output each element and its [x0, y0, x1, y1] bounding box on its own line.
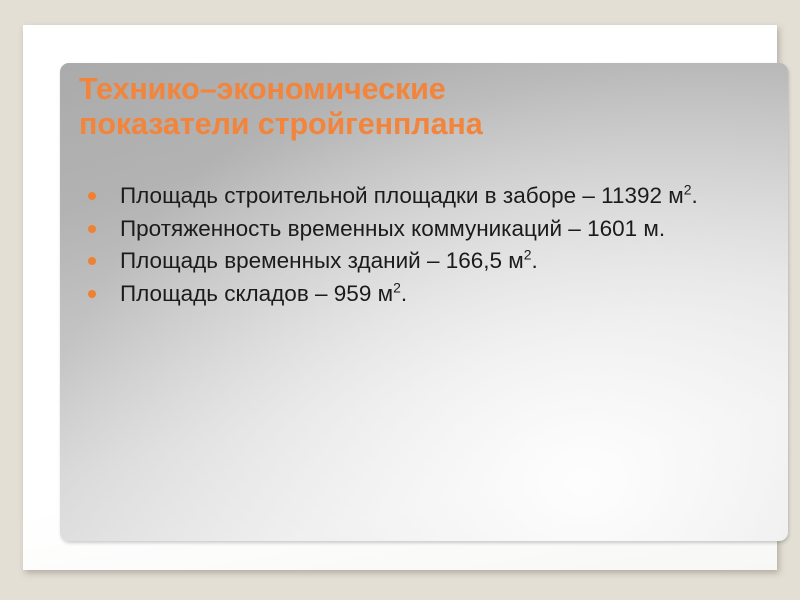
list-item-text-main: Площадь строительной площадки в заборе –…	[120, 183, 684, 208]
list-item-text-main: Протяженность временных коммуникаций – 1…	[120, 216, 665, 241]
list-item: Площадь строительной площадки в заборе –…	[81, 181, 761, 211]
bullet-dot-icon	[88, 192, 96, 200]
bullet-dot-icon	[88, 290, 96, 298]
list-item-text: Площадь строительной площадки в заборе –…	[120, 181, 761, 211]
slide-card: Технико–экономические показатели стройге…	[23, 25, 777, 570]
list-item-text-tail: .	[692, 183, 698, 208]
list-item: Площадь складов – 959 м2.	[81, 279, 761, 309]
bullet-dot-icon	[88, 257, 96, 265]
list-item: Протяженность временных коммуникаций – 1…	[81, 214, 761, 244]
bullet-dot-icon	[88, 225, 96, 233]
list-item-text-tail: .	[532, 248, 538, 273]
list-item-superscript: 2	[684, 182, 692, 198]
list-item-text: Площадь временных зданий – 166,5 м2.	[120, 246, 761, 276]
slide-content-panel: Технико–экономические показатели стройге…	[60, 63, 788, 541]
bullet-list: Площадь строительной площадки в заборе –…	[81, 181, 761, 311]
list-item-text: Площадь складов – 959 м2.	[120, 279, 761, 309]
list-item-text-main: Площадь временных зданий – 166,5 м	[120, 248, 524, 273]
slide-title: Технико–экономические показатели стройге…	[79, 72, 769, 142]
list-item-text: Протяженность временных коммуникаций – 1…	[120, 214, 761, 244]
list-item-text-tail: .	[401, 281, 407, 306]
list-item-text-main: Площадь складов – 959 м	[120, 281, 393, 306]
list-item: Площадь временных зданий – 166,5 м2.	[81, 246, 761, 276]
list-item-superscript: 2	[393, 279, 401, 295]
slide-canvas: Технико–экономические показатели стройге…	[0, 0, 800, 600]
list-item-superscript: 2	[524, 247, 532, 263]
